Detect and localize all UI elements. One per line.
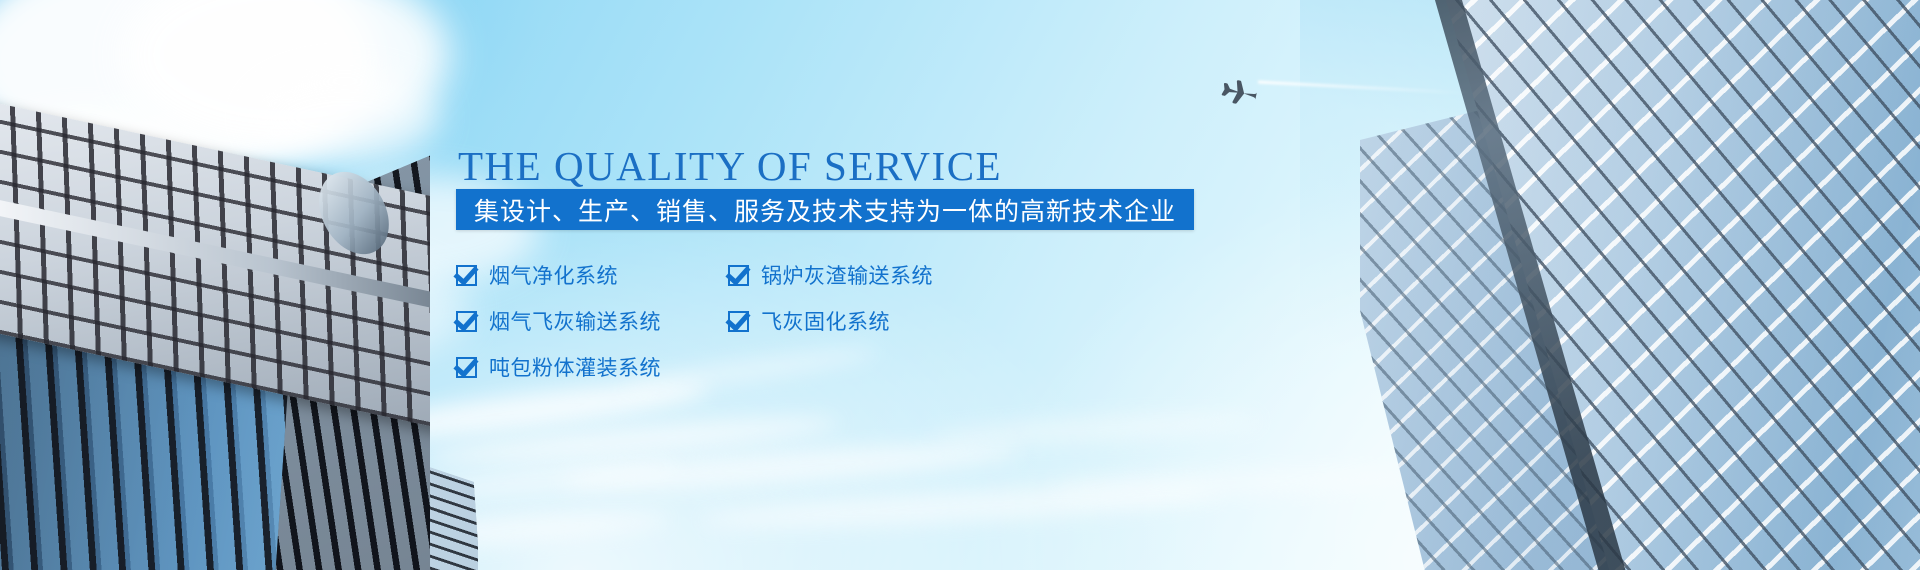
feature-item-flyash-solidification[interactable]: 飞灰固化系统 bbox=[728, 298, 890, 344]
tagline-text: 集设计、生产、销售、服务及技术支持为一体的高新技术企业 bbox=[474, 192, 1176, 228]
checkbox-checked-icon bbox=[456, 357, 477, 378]
feature-label: 烟气净化系统 bbox=[489, 260, 618, 290]
page-title: THE QUALITY OF SERVICE bbox=[458, 142, 1002, 190]
banner-content: THE QUALITY OF SERVICE 集设计、生产、销售、服务及技术支持… bbox=[456, 0, 1456, 570]
feature-item-boiler-ash-conveying[interactable]: 锅炉灰渣输送系统 bbox=[728, 252, 933, 298]
feature-label: 锅炉灰渣输送系统 bbox=[761, 260, 933, 290]
checkbox-checked-icon bbox=[456, 265, 477, 286]
tagline-bar: 集设计、生产、销售、服务及技术支持为一体的高新技术企业 bbox=[456, 189, 1194, 230]
feature-label: 烟气飞灰输送系统 bbox=[489, 306, 661, 336]
feature-label: 吨包粉体灌装系统 bbox=[489, 352, 661, 382]
checkbox-checked-icon bbox=[728, 265, 749, 286]
checkbox-checked-icon bbox=[728, 311, 749, 332]
feature-list: 烟气净化系统 锅炉灰渣输送系统 烟气飞灰输送系统 飞灰固化系统 bbox=[456, 252, 1156, 390]
feature-item-flyash-conveying[interactable]: 烟气飞灰输送系统 bbox=[456, 298, 728, 344]
checkbox-checked-icon bbox=[456, 311, 477, 332]
feature-item-smoke-purification[interactable]: 烟气净化系统 bbox=[456, 252, 728, 298]
feature-item-bulk-bag-filling[interactable]: 吨包粉体灌装系统 bbox=[456, 344, 728, 390]
feature-row: 烟气飞灰输送系统 飞灰固化系统 bbox=[456, 298, 1156, 344]
office-tower-left bbox=[0, 78, 430, 570]
feature-row: 烟气净化系统 锅炉灰渣输送系统 bbox=[456, 252, 1156, 298]
feature-row: 吨包粉体灌装系统 bbox=[456, 344, 1156, 390]
feature-label: 飞灰固化系统 bbox=[761, 306, 890, 336]
hero-banner: THE QUALITY OF SERVICE 集设计、生产、销售、服务及技术支持… bbox=[0, 0, 1920, 570]
